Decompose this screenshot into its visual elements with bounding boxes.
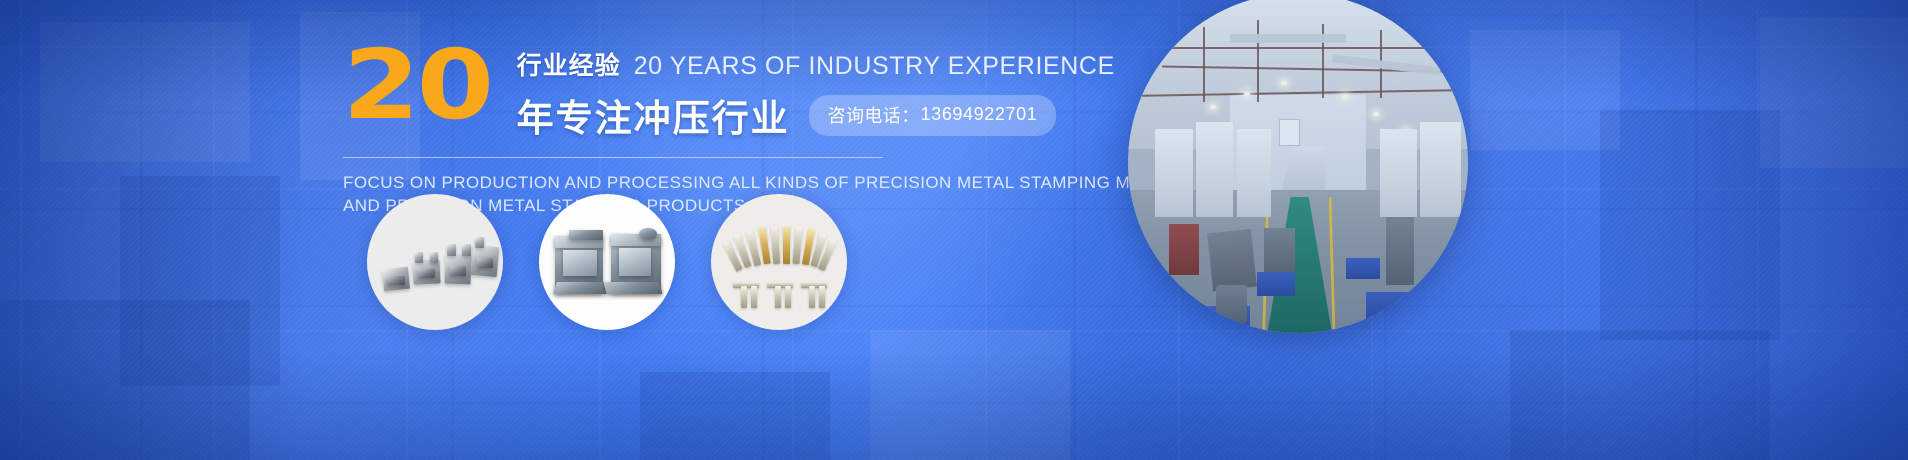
- subtitle-line-1: FOCUS ON PRODUCTION AND PROCESSING ALL K…: [343, 171, 1033, 194]
- years-number: 20: [342, 44, 491, 127]
- factory-photo-circle: [1128, 0, 1468, 333]
- product-circle-terminal-pins: [711, 194, 847, 330]
- headline-row: 20 行业经验 20 YEARS OF INDUSTRY EXPERIENCE …: [343, 42, 1103, 142]
- cn-subtitle-experience: 行业经验: [517, 46, 621, 82]
- usb-connectors-image: [367, 194, 503, 330]
- en-headline: 20 YEARS OF INDUSTRY EXPERIENCE: [634, 52, 1115, 81]
- phone-badge[interactable]: 咨询电话： 13694922701: [809, 95, 1057, 136]
- product-circle-stamping-mold: [539, 194, 675, 330]
- headline-line-2: 年专注冲压行业 咨询电话： 13694922701: [517, 88, 1115, 142]
- cn-headline: 年专注冲压行业: [517, 88, 790, 142]
- headline-block: 20 行业经验 20 YEARS OF INDUSTRY EXPERIENCE …: [343, 42, 1103, 218]
- stamping-mold-image: [539, 194, 675, 330]
- headline-line-1: 行业经验 20 YEARS OF INDUSTRY EXPERIENCE: [517, 46, 1115, 82]
- phone-label: 咨询电话：: [828, 102, 920, 128]
- phone-number: 13694922701: [921, 104, 1038, 125]
- terminal-pins-image: [711, 194, 847, 330]
- divider-rule: [343, 157, 883, 158]
- product-circle-usb-connectors: [367, 194, 503, 330]
- headline-text: 行业经验 20 YEARS OF INDUSTRY EXPERIENCE 年专注…: [517, 42, 1115, 142]
- promo-banner: 20 行业经验 20 YEARS OF INDUSTRY EXPERIENCE …: [0, 0, 1908, 460]
